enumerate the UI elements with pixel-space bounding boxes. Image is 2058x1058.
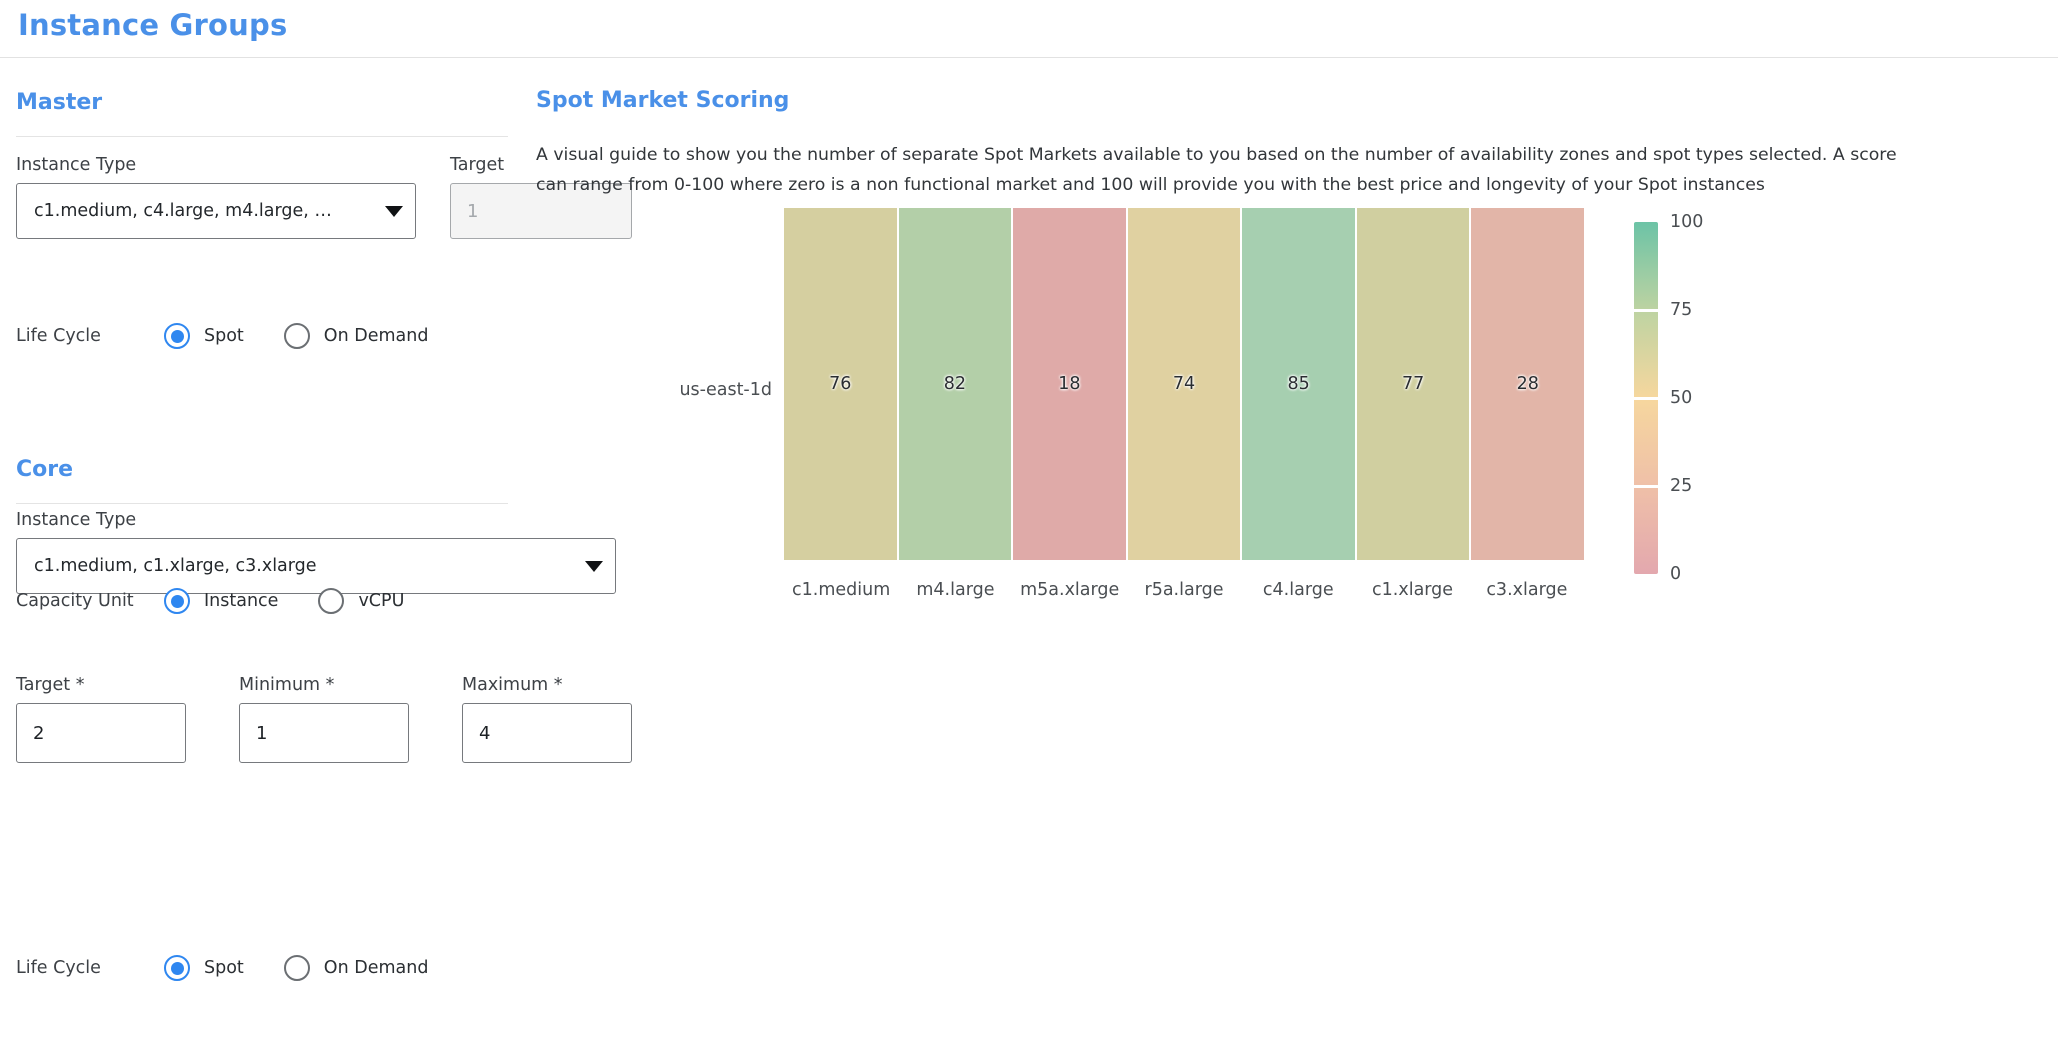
- core-capacity-unit-vcpu-label: vCPU: [358, 591, 404, 611]
- colorbar-tick-label: 50: [1670, 388, 1692, 408]
- master-section-divider: [16, 136, 508, 137]
- heatmap-row-label: us-east-1d: [536, 380, 772, 400]
- core-life-cycle-spot-label: Spot: [204, 958, 244, 978]
- page-title: Instance Groups: [18, 8, 287, 42]
- master-instance-type-label: Instance Type: [16, 155, 136, 175]
- radio-icon[interactable]: [318, 588, 344, 614]
- heatmap-cell-value: 85: [1287, 374, 1309, 394]
- colorbar-tick-label: 75: [1670, 300, 1692, 320]
- radio-icon[interactable]: [284, 955, 310, 981]
- core-maximum-input[interactable]: 4: [462, 703, 632, 763]
- heatmap-cell-value: 74: [1173, 374, 1195, 394]
- heatmap-cell[interactable]: 28: [1471, 208, 1584, 560]
- core-capacity-unit-option-instance[interactable]: Instance: [164, 588, 278, 614]
- heatmap-cell-value: 76: [829, 374, 851, 394]
- heatmap-cell[interactable]: 82: [899, 208, 1014, 560]
- heatmap-cell[interactable]: 85: [1242, 208, 1357, 560]
- radio-icon[interactable]: [164, 588, 190, 614]
- core-target-label: Target *: [16, 675, 84, 695]
- master-life-cycle-option-on-demand[interactable]: On Demand: [284, 323, 429, 349]
- heatmap-x-tick-label: c4.large: [1241, 560, 1355, 610]
- heatmap-cell-value: 18: [1058, 374, 1080, 394]
- master-life-cycle-row: Life Cycle Spot On Demand: [16, 323, 428, 349]
- core-instance-type-value: c1.medium, c1.xlarge, c3.xlarge: [34, 556, 577, 576]
- heatmap-cell[interactable]: 76: [784, 208, 899, 560]
- heatmap-cell[interactable]: 77: [1357, 208, 1472, 560]
- colorbar-tick-label: 100: [1670, 212, 1703, 232]
- heatmap-cell[interactable]: 18: [1013, 208, 1128, 560]
- chevron-down-icon: [385, 206, 403, 217]
- colorbar-tick-label: 25: [1670, 476, 1692, 496]
- core-capacity-unit-label: Capacity Unit: [16, 591, 164, 611]
- spot-market-scoring-title: Spot Market Scoring: [536, 88, 789, 113]
- core-life-cycle-option-spot[interactable]: Spot: [164, 955, 244, 981]
- heatmap-colorbar: 1007550250: [1634, 222, 1834, 602]
- radio-icon[interactable]: [164, 323, 190, 349]
- heatmap-cells: 76821874857728: [784, 208, 1584, 560]
- core-life-cycle-row: Life Cycle Spot On Demand: [16, 955, 428, 981]
- core-capacity-unit-row: Capacity Unit Instance vCPU: [16, 588, 404, 614]
- master-instance-type-value: c1.medium, c4.large, m4.large, …: [34, 201, 377, 221]
- core-capacity-unit-option-vcpu[interactable]: vCPU: [318, 588, 404, 614]
- heatmap-x-axis: c1.mediumm4.largem5a.xlarger5a.largec4.l…: [784, 560, 1584, 610]
- core-instance-type-select[interactable]: c1.medium, c1.xlarge, c3.xlarge: [16, 538, 616, 594]
- core-section-heading: Core: [16, 457, 73, 482]
- heatmap-x-tick-label: c3.xlarge: [1470, 560, 1584, 610]
- master-section-heading: Master: [16, 90, 102, 115]
- core-life-cycle-label: Life Cycle: [16, 958, 164, 978]
- heatmap-cell[interactable]: 74: [1128, 208, 1243, 560]
- heatmap-cell-value: 82: [944, 374, 966, 394]
- core-target-input[interactable]: 2: [16, 703, 186, 763]
- master-instance-type-select[interactable]: c1.medium, c4.large, m4.large, …: [16, 183, 416, 239]
- spot-market-heatmap: us-east-1d 76821874857728 c1.mediumm4.la…: [536, 208, 1910, 628]
- colorbar-tick: [1634, 309, 1658, 312]
- master-target-label: Target: [450, 155, 504, 175]
- heatmap-x-tick-label: m5a.xlarge: [1013, 560, 1127, 610]
- radio-icon[interactable]: [284, 323, 310, 349]
- heatmap-x-tick-label: r5a.large: [1127, 560, 1241, 610]
- heatmap-cell-value: 28: [1517, 374, 1539, 394]
- core-capacity-unit-instance-label: Instance: [204, 591, 278, 611]
- spot-market-scoring-panel: Spot Market Scoring A visual guide to sh…: [700, 58, 2058, 1058]
- core-minimum-input[interactable]: 1: [239, 703, 409, 763]
- colorbar-tick: [1634, 397, 1658, 400]
- master-life-cycle-label: Life Cycle: [16, 326, 164, 346]
- core-instance-type-label: Instance Type: [16, 510, 136, 530]
- heatmap-x-tick-label: m4.large: [898, 560, 1012, 610]
- core-maximum-label: Maximum *: [462, 675, 563, 695]
- colorbar-tick-label: 0: [1670, 564, 1681, 584]
- colorbar-tick: [1634, 485, 1658, 488]
- heatmap-x-tick-label: c1.xlarge: [1355, 560, 1469, 610]
- core-minimum-label: Minimum *: [239, 675, 334, 695]
- core-section-divider: [16, 503, 508, 504]
- master-life-cycle-spot-label: Spot: [204, 326, 244, 346]
- core-life-cycle-option-on-demand[interactable]: On Demand: [284, 955, 429, 981]
- spot-market-scoring-description: A visual guide to show you the number of…: [536, 140, 1910, 200]
- core-life-cycle-on-demand-label: On Demand: [324, 958, 429, 978]
- heatmap-cell-value: 77: [1402, 374, 1424, 394]
- master-life-cycle-option-spot[interactable]: Spot: [164, 323, 244, 349]
- heatmap-x-tick-label: c1.medium: [784, 560, 898, 610]
- radio-icon[interactable]: [164, 955, 190, 981]
- instance-groups-page: Instance Groups Master Instance Type c1.…: [0, 0, 2058, 1058]
- master-life-cycle-on-demand-label: On Demand: [324, 326, 429, 346]
